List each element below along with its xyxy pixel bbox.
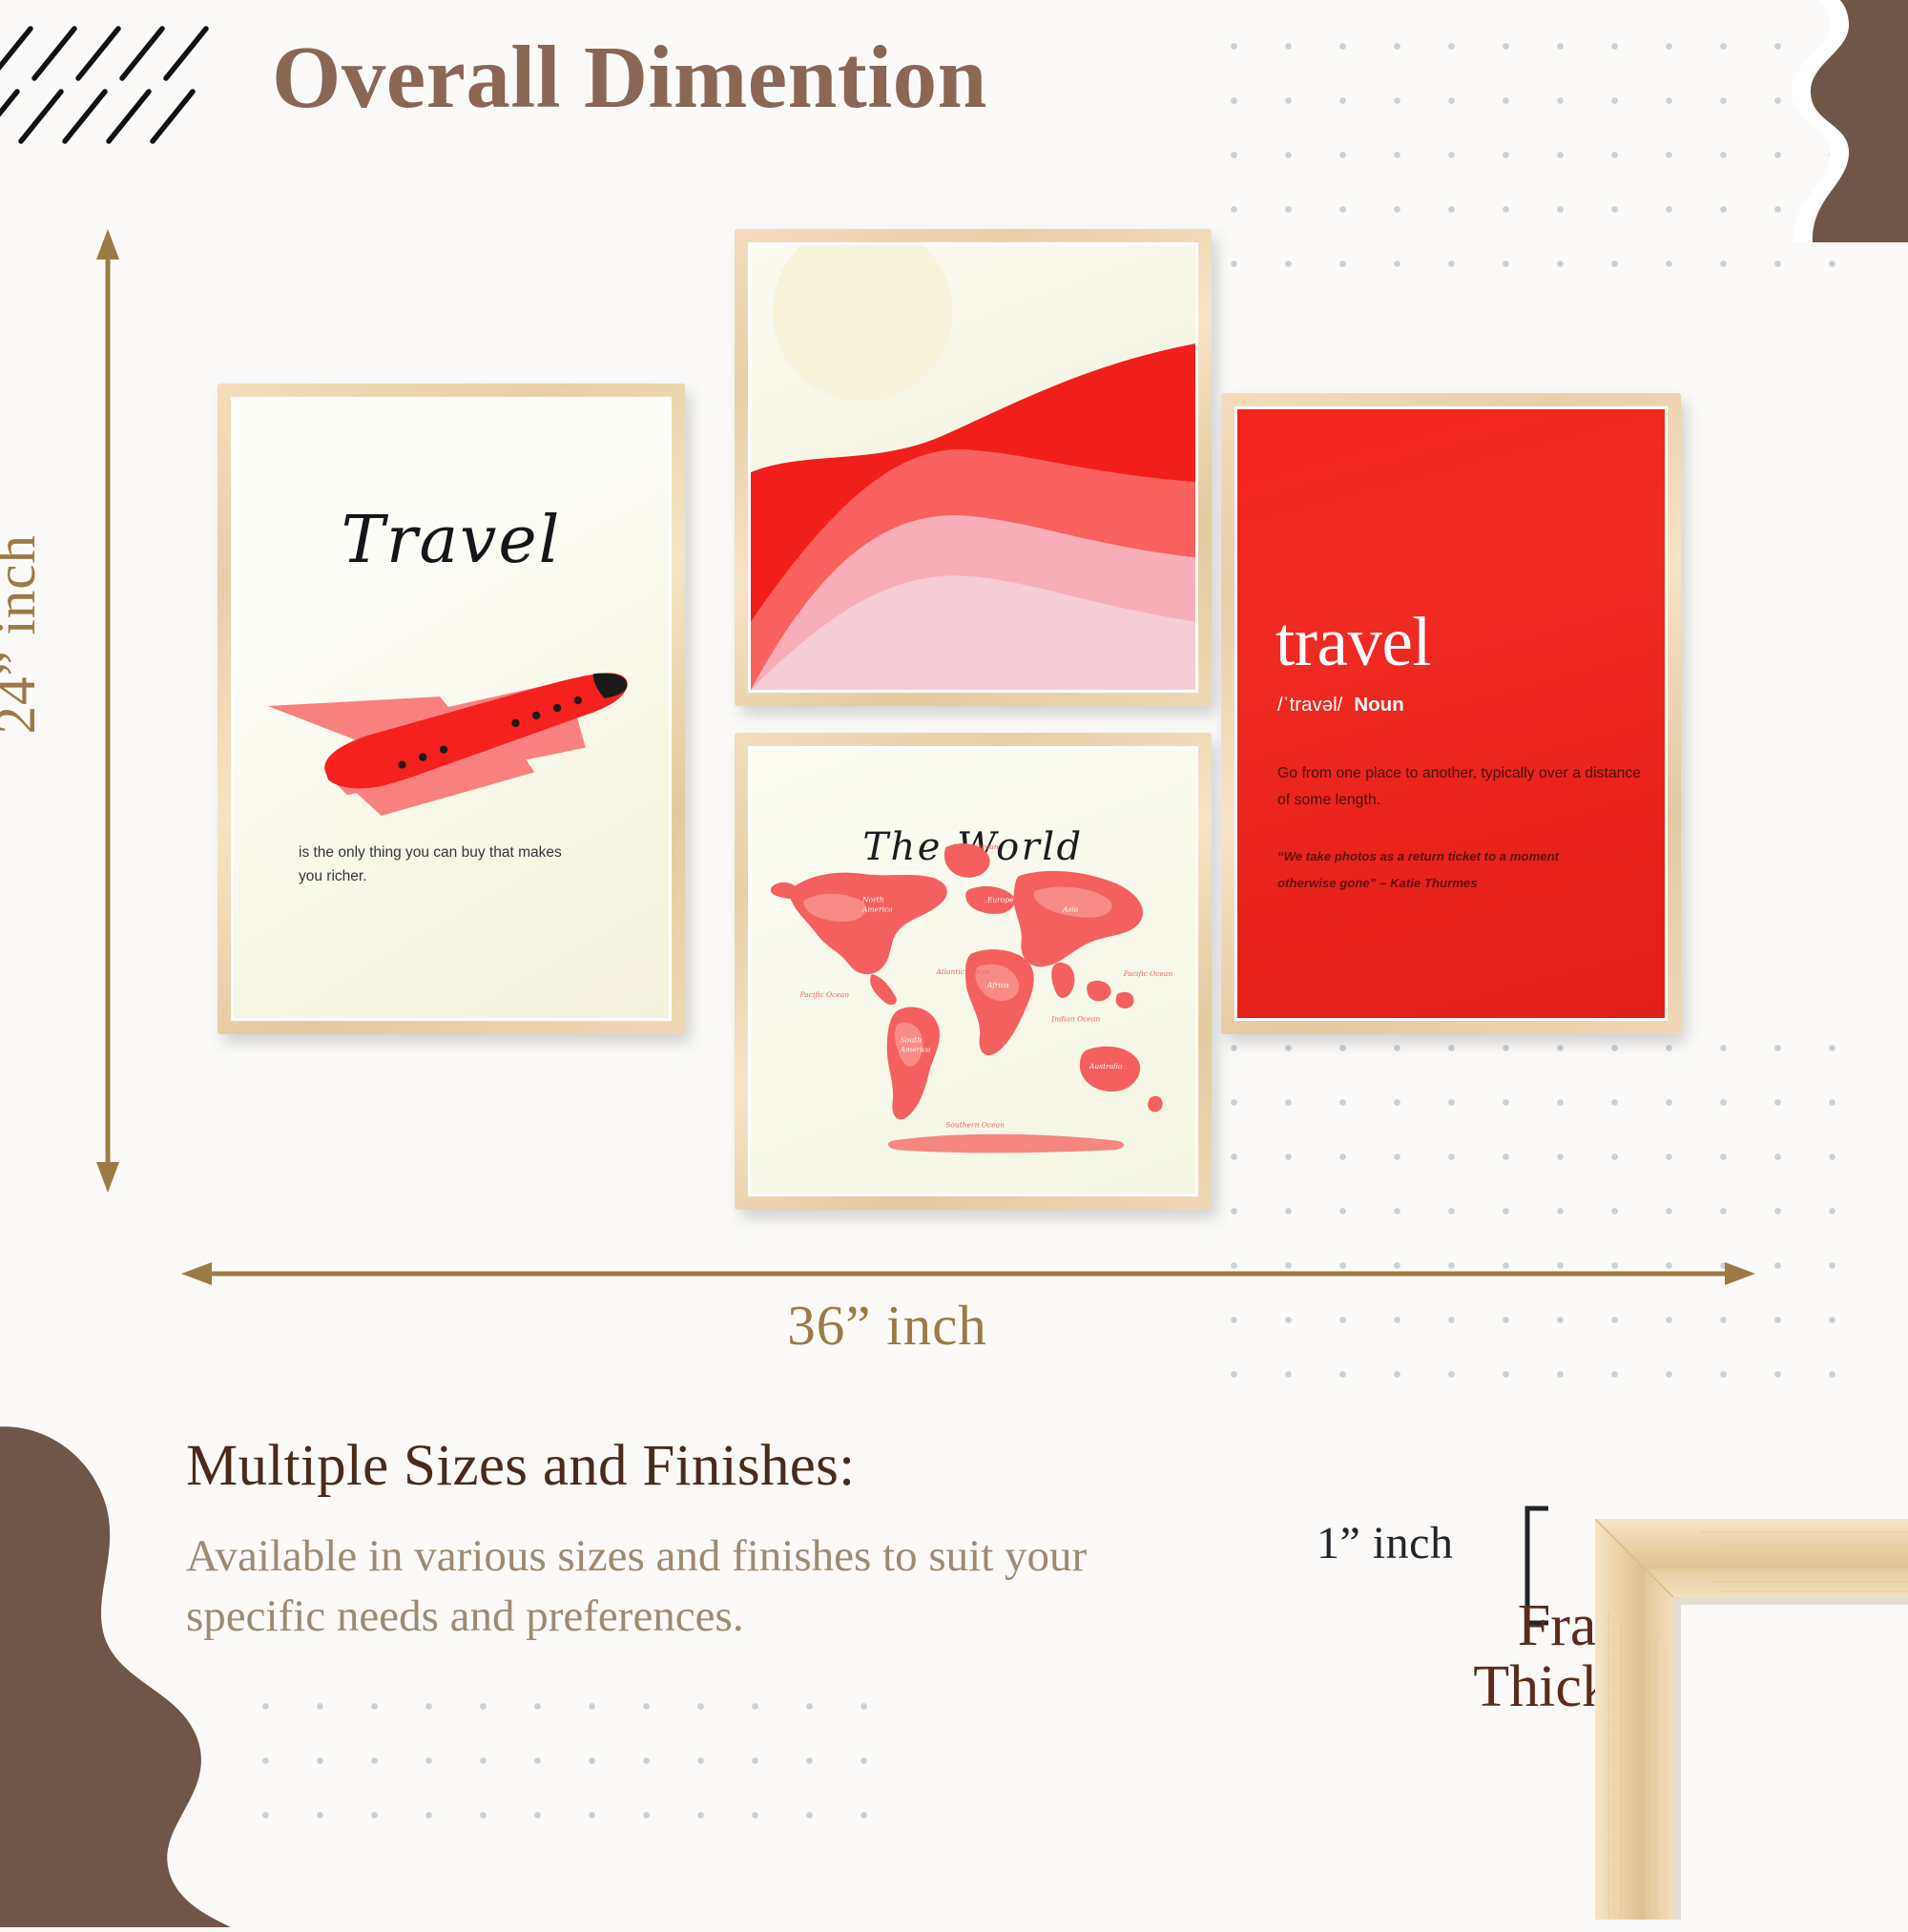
width-dimension-label: 36” inch [787,1293,987,1359]
height-dimension-arrow [95,229,120,1193]
poster-frame-travel-definition[interactable]: travel /ˈtravəl/ Noun Go from one place … [1221,393,1681,1034]
poster-artwork-plane: Travel [234,400,669,1018]
dot-grid-mid-right [1207,1021,1875,1402]
poster-frame-abstract-waves[interactable] [735,229,1212,706]
infographic-canvas: Overall Dimention Travel [0,0,1908,1908]
sizes-body-text: Available in various sizes and finishes … [186,1527,1226,1646]
thickness-measure-label: 1” inch [1317,1517,1453,1569]
map-label-north-america: North [861,896,884,904]
definition-quote: “We take photos as a return ticket to a … [1277,843,1592,896]
definition-word: travel [1275,602,1431,682]
poster-artwork-definition: travel /ˈtravəl/ Noun Go from one place … [1237,409,1665,1018]
map-label-pacific-ocean-2: Pacific Ocean [1123,969,1173,978]
definition-meaning: Go from one place to another, typically … [1277,760,1648,814]
poster-artwork-map: The World [751,749,1195,1194]
page-title: Overall Dimention [272,27,987,129]
definition-pronunciation-row: /ˈtravəl/ Noun [1277,694,1404,717]
frame-bevel: Travel [231,397,672,1021]
frame-bevel [748,242,1198,693]
frame-bevel: The World [748,746,1198,1196]
width-dimension-arrow [181,1261,1755,1286]
diagonal-hatch-decoration [0,19,210,153]
map-label-indian-ocean: Indian Ocean [1050,1015,1100,1024]
plane-poster-caption: is the only thing you can buy that makes… [299,841,575,888]
height-dimension-label: 24” inch [0,534,49,735]
sizes-heading: Multiple Sizes and Finishes: [186,1433,855,1500]
map-label-asia: Asia [1062,905,1078,914]
dot-grid-bottom-left [238,1679,906,1851]
frame-bevel: travel /ˈtravəl/ Noun Go from one place … [1234,406,1668,1021]
definition-part-of-speech: Noun [1354,694,1403,717]
map-label-south-america-2: America [900,1045,931,1053]
definition-pronunciation: /ˈtravəl/ [1277,694,1342,717]
map-label-north-america-2: America [861,905,893,914]
airplane-illustration [234,400,669,1018]
frame-corner-sample [1595,1519,1908,1920]
map-label-europe: Europe [986,896,1014,904]
map-label-southern-ocean: Southern Ocean [945,1121,1005,1130]
world-map-illustration: North America South America Africa Asia … [751,749,1195,1194]
map-label-australia: Australia [1089,1062,1123,1070]
blob-decoration-top-right [1669,0,1908,242]
poster-frame-world-map[interactable]: The World [735,733,1212,1210]
poster-frame-travel-plane[interactable]: Travel [218,384,685,1034]
map-label-africa: Africa [986,981,1009,989]
map-label-pacific-ocean: Pacific Ocean [799,990,850,999]
poster-artwork-waves [751,245,1195,690]
map-label-south-america: South [901,1035,923,1044]
map-label-atlantic-ocean: Atlantic Ocean [935,967,989,976]
map-label-arctic-ocean: Arctic Ocean [950,842,999,851]
